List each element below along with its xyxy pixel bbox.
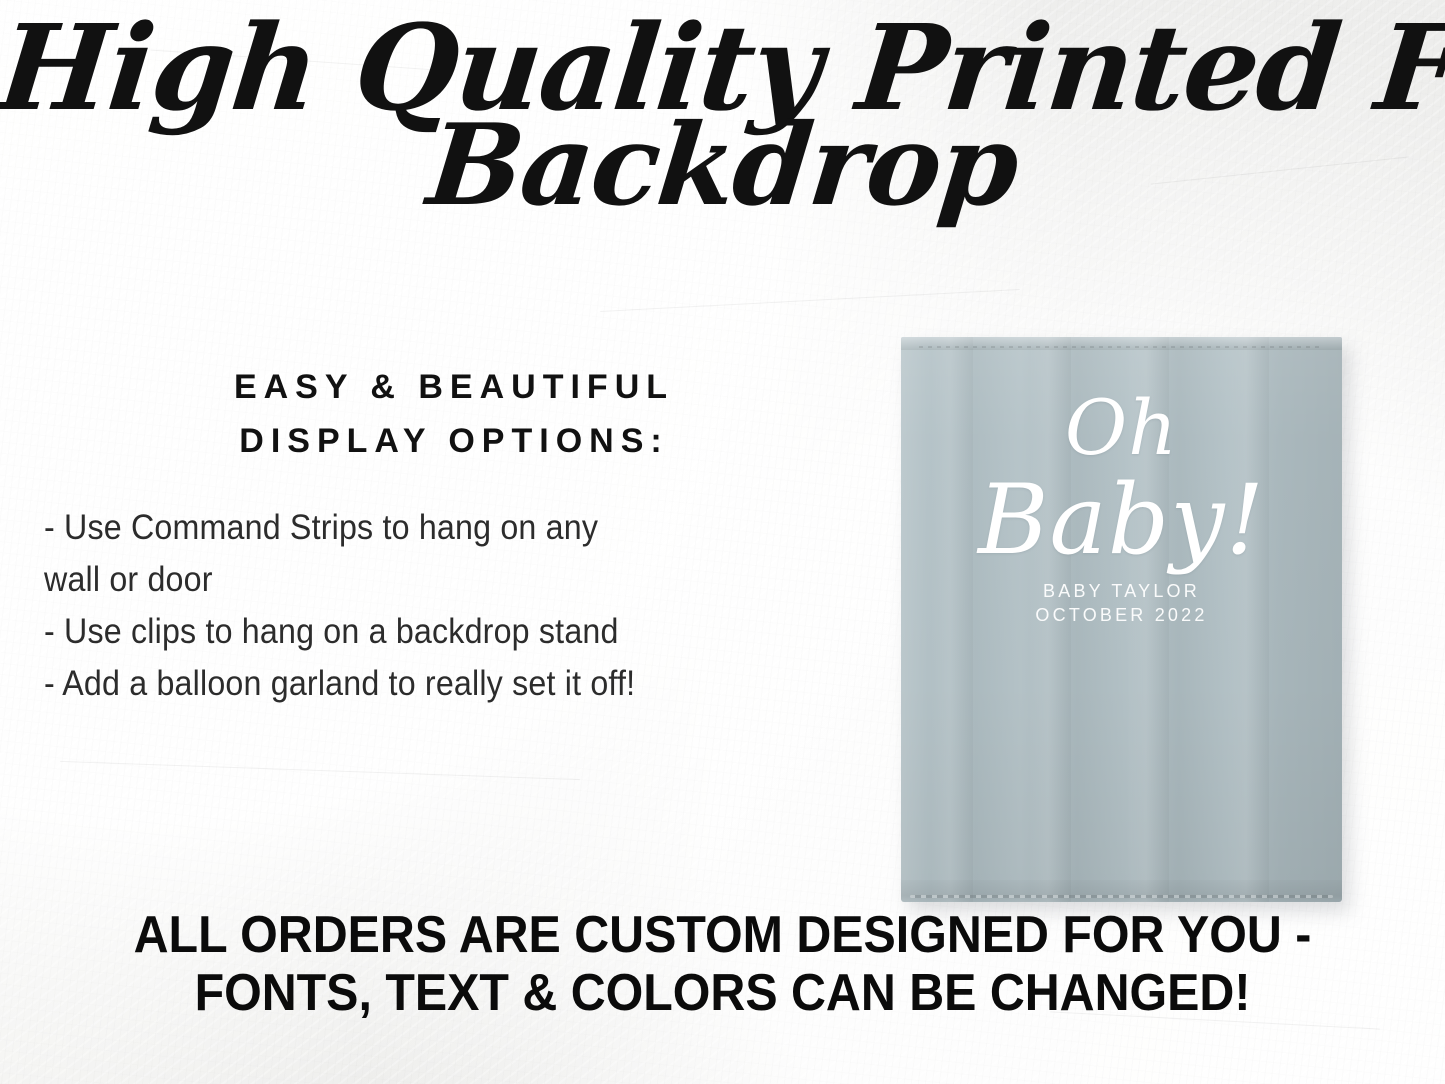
subheading-line-2: DISPLAY OPTIONS: <box>44 414 864 468</box>
wall-crack <box>1151 156 1410 184</box>
print-script-line-1: Oh <box>901 389 1342 467</box>
backdrop-product-image: Oh Baby! BABY TAYLOR OCTOBER 2022 <box>901 337 1342 902</box>
fabric-panel: Oh Baby! BABY TAYLOR OCTOBER 2022 <box>901 337 1342 902</box>
banner-line-1: ALL ORDERS ARE CUSTOM DESIGNED FOR YOU - <box>51 906 1395 964</box>
display-options-section: EASY & BEAUTIFUL DISPLAY OPTIONS: - Use … <box>44 360 864 710</box>
print-caps-line-2: OCTOBER 2022 <box>901 603 1342 627</box>
list-item: wall or door <box>44 554 798 606</box>
list-item: - Use Command Strips to hang on any <box>44 502 798 554</box>
bullet-list: - Use Command Strips to hang on any wall… <box>44 502 864 710</box>
backdrop-print: Oh Baby! BABY TAYLOR OCTOBER 2022 <box>901 389 1342 627</box>
headline-line-2: Backdrop <box>0 110 1445 222</box>
fabric-bottom-hem <box>901 880 1342 902</box>
wall-crack <box>150 50 449 72</box>
print-caps-line-1: BABY TAYLOR <box>901 579 1342 603</box>
page-title: High Quality Printed Fabric Backdrop <box>0 8 1445 222</box>
listing-graphic: High Quality Printed Fabric Backdrop EAS… <box>0 0 1445 1084</box>
print-script-line-2: Baby! <box>901 471 1342 569</box>
fabric-top-hem <box>901 337 1342 350</box>
headline-line-1: High Quality Printed Fabric <box>0 8 1445 128</box>
custom-design-banner: ALL ORDERS ARE CUSTOM DESIGNED FOR YOU -… <box>0 906 1445 1022</box>
subheading-line-1: EASY & BEAUTIFUL <box>44 360 864 414</box>
print-caps-block: BABY TAYLOR OCTOBER 2022 <box>901 579 1342 627</box>
banner-line-2: FONTS, TEXT & COLORS CAN BE CHANGED! <box>51 964 1395 1022</box>
list-item: - Use clips to hang on a backdrop stand <box>44 606 798 658</box>
wall-crack <box>60 761 580 780</box>
list-item: - Add a balloon garland to really set it… <box>44 658 798 710</box>
wall-crack <box>600 289 1019 312</box>
